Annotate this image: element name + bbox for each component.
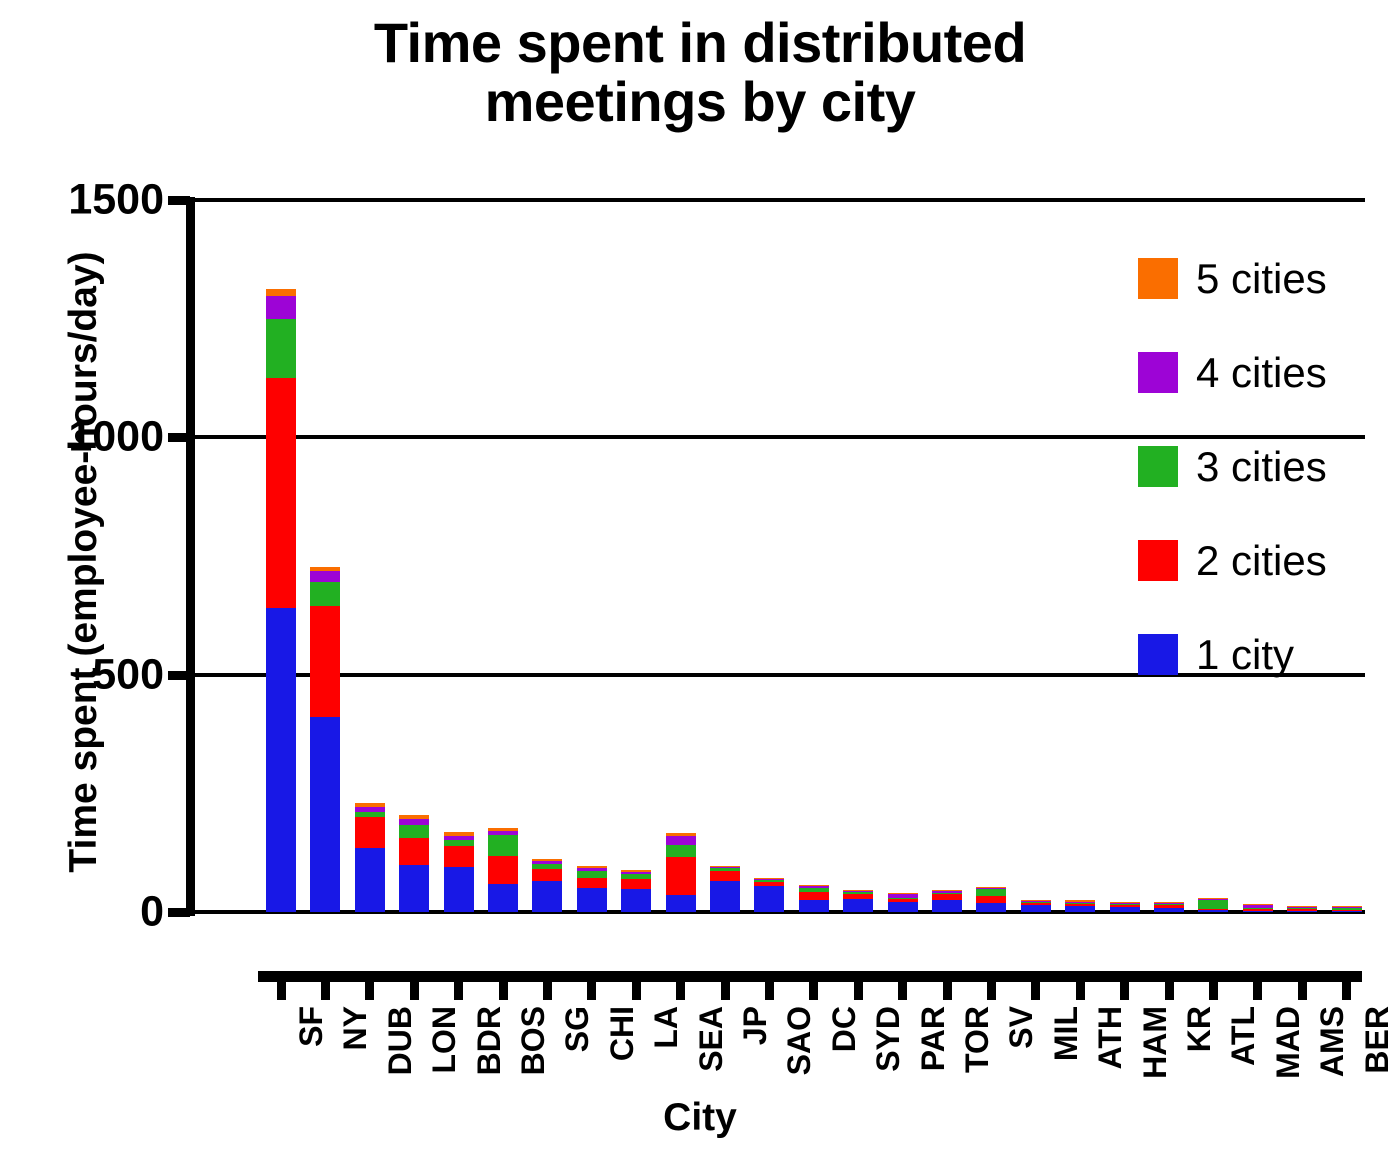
x-tick-sao bbox=[765, 982, 774, 1000]
bar-mil[interactable] bbox=[1021, 900, 1051, 912]
bar-segment-sv-2-cities bbox=[976, 896, 1006, 904]
bar-segment-ber-1-city bbox=[1332, 911, 1362, 912]
legend-item-4-cities[interactable]: 4 cities bbox=[1138, 352, 1388, 393]
y-tick-0 bbox=[168, 908, 190, 917]
bar-chi[interactable] bbox=[577, 866, 607, 912]
bar-segment-sao-1-city bbox=[754, 886, 784, 912]
bar-jp[interactable] bbox=[710, 866, 740, 912]
legend-label-5-cities: 5 cities bbox=[1196, 255, 1327, 303]
x-tick-bdr bbox=[454, 982, 463, 1000]
bar-bos[interactable] bbox=[488, 828, 518, 912]
bar-segment-dub-2-cities bbox=[355, 817, 385, 848]
x-tick-label-sea: SEA bbox=[693, 1006, 730, 1072]
bar-segment-chi-1-city bbox=[577, 888, 607, 912]
bar-segment-sf-1-city bbox=[266, 608, 296, 912]
bar-segment-sg-1-city bbox=[532, 881, 562, 912]
x-tick-mil bbox=[1031, 982, 1040, 1000]
bar-segment-bdr-1-city bbox=[444, 867, 474, 912]
bar-segment-atl-3-cities bbox=[1198, 900, 1228, 909]
bar-segment-chi-3-cities bbox=[577, 871, 607, 878]
bar-segment-bos-1-city bbox=[488, 884, 518, 912]
bar-segment-sea-4-cities bbox=[666, 836, 696, 845]
bar-segment-ny-2-cities bbox=[310, 606, 340, 718]
x-tick-label-ny: NY bbox=[337, 1006, 374, 1050]
x-tick-label-par: PAR bbox=[915, 1006, 952, 1071]
y-tick-label-0: 0 bbox=[140, 888, 164, 937]
y-tick-1500 bbox=[168, 196, 190, 205]
x-tick-label-chi: CHI bbox=[604, 1006, 641, 1061]
x-tick-label-ber: BER bbox=[1359, 1006, 1396, 1074]
legend-swatch-1-city bbox=[1138, 634, 1178, 675]
bar-segment-tor-1-city bbox=[932, 900, 962, 912]
bar-segment-jp-2-cities bbox=[710, 871, 740, 881]
bar-segment-bos-2-cities bbox=[488, 856, 518, 884]
x-tick-label-dub: DUB bbox=[382, 1006, 419, 1075]
bar-ams[interactable] bbox=[1287, 906, 1317, 912]
bar-bdr[interactable] bbox=[444, 832, 474, 912]
y-axis-ticks: 050010001500 bbox=[0, 0, 190, 1156]
bar-segment-dc-2-cities bbox=[799, 892, 829, 900]
bar-segment-mil-1-city bbox=[1021, 905, 1051, 912]
legend-label-2-cities: 2 cities bbox=[1196, 537, 1327, 585]
x-tick-label-ath: ATH bbox=[1092, 1006, 1129, 1069]
bar-segment-kr-1-city bbox=[1154, 908, 1184, 912]
bar-segment-sf-5-cities bbox=[266, 289, 296, 296]
bar-segment-dc-1-city bbox=[799, 900, 829, 912]
bar-segment-bos-3-cities bbox=[488, 835, 518, 856]
legend-item-5-cities[interactable]: 5 cities bbox=[1138, 258, 1388, 299]
bar-segment-par-1-city bbox=[888, 902, 918, 912]
legend-item-1-city[interactable]: 1 city bbox=[1138, 634, 1388, 675]
x-axis-line bbox=[258, 971, 1362, 982]
x-tick-la bbox=[632, 982, 641, 1000]
x-tick-label-ams: AMS bbox=[1314, 1006, 1351, 1077]
x-tick-sg bbox=[543, 982, 552, 1000]
x-tick-label-mad: MAD bbox=[1270, 1006, 1307, 1079]
bar-segment-ams-1-city bbox=[1287, 911, 1317, 912]
bar-la[interactable] bbox=[621, 870, 651, 912]
x-tick-label-bos: BOS bbox=[515, 1006, 552, 1075]
bar-lon[interactable] bbox=[399, 815, 429, 912]
x-tick-tor bbox=[943, 982, 952, 1000]
x-tick-lon bbox=[410, 982, 419, 1000]
bar-segment-ny-1-city bbox=[310, 717, 340, 912]
x-tick-label-lon: LON bbox=[426, 1006, 463, 1074]
bar-segment-sf-4-cities bbox=[266, 296, 296, 319]
bar-sv[interactable] bbox=[976, 887, 1006, 912]
x-tick-ny bbox=[321, 982, 330, 1000]
y-tick-label-1000: 1000 bbox=[68, 413, 164, 462]
y-tick-1000 bbox=[168, 433, 190, 442]
bar-segment-la-1-city bbox=[621, 889, 651, 912]
bar-ham[interactable] bbox=[1110, 902, 1140, 912]
x-tick-label-sao: SAO bbox=[781, 1006, 818, 1075]
bar-segment-ham-1-city bbox=[1110, 907, 1140, 912]
bar-sea[interactable] bbox=[666, 833, 696, 912]
bar-segment-lon-1-city bbox=[399, 865, 429, 912]
bar-syd[interactable] bbox=[843, 890, 873, 912]
bar-segment-sf-2-cities bbox=[266, 378, 296, 608]
x-tick-label-dc: DC bbox=[826, 1006, 863, 1052]
bar-segment-ny-4-cities bbox=[310, 571, 340, 582]
x-tick-label-syd: SYD bbox=[870, 1006, 907, 1072]
bar-segment-sea-1-city bbox=[666, 895, 696, 912]
legend-swatch-5-cities bbox=[1138, 258, 1178, 299]
x-tick-ams bbox=[1298, 982, 1307, 1000]
x-tick-dub bbox=[365, 982, 374, 1000]
legend-item-2-cities[interactable]: 2 cities bbox=[1138, 540, 1388, 581]
bar-segment-sf-3-cities bbox=[266, 319, 296, 378]
x-tick-label-atl: ATL bbox=[1225, 1006, 1262, 1066]
bar-segment-dub-1-city bbox=[355, 848, 385, 912]
x-tick-label-ham: HAM bbox=[1137, 1006, 1174, 1079]
x-tick-label-jp: JP bbox=[737, 1006, 774, 1045]
bar-segment-mad-1-city bbox=[1243, 911, 1273, 912]
bar-dub[interactable] bbox=[355, 803, 385, 912]
x-tick-par bbox=[898, 982, 907, 1000]
legend-label-4-cities: 4 cities bbox=[1196, 349, 1327, 397]
chart-figure: Time spent in distributed meetings by ci… bbox=[0, 0, 1400, 1156]
x-tick-bos bbox=[499, 982, 508, 1000]
bar-dc[interactable] bbox=[799, 885, 829, 912]
x-tick-ath bbox=[1076, 982, 1085, 1000]
x-tick-sea bbox=[676, 982, 685, 1000]
bar-sao[interactable] bbox=[754, 878, 784, 912]
bar-atl[interactable] bbox=[1198, 898, 1228, 912]
bar-segment-lon-2-cities bbox=[399, 838, 429, 864]
legend-swatch-3-cities bbox=[1138, 446, 1178, 487]
bar-segment-la-2-cities bbox=[621, 879, 651, 889]
x-tick-sv bbox=[987, 982, 996, 1000]
x-tick-label-sg: SG bbox=[559, 1006, 596, 1052]
bar-tor[interactable] bbox=[932, 890, 962, 912]
x-tick-atl bbox=[1209, 982, 1218, 1000]
y-tick-500 bbox=[168, 671, 190, 680]
x-tick-ber bbox=[1342, 982, 1351, 1000]
legend-label-3-cities: 3 cities bbox=[1196, 443, 1327, 491]
bar-mad[interactable] bbox=[1243, 904, 1273, 912]
bar-segment-chi-2-cities bbox=[577, 878, 607, 888]
x-tick-syd bbox=[854, 982, 863, 1000]
bar-segment-syd-1-city bbox=[843, 899, 873, 912]
bar-segment-ny-3-cities bbox=[310, 582, 340, 606]
bar-segment-bdr-2-cities bbox=[444, 846, 474, 867]
x-tick-chi bbox=[587, 982, 596, 1000]
bar-segment-sea-2-cities bbox=[666, 857, 696, 895]
legend-swatch-4-cities bbox=[1138, 352, 1178, 393]
x-tick-label-bdr: BDR bbox=[471, 1006, 508, 1075]
bar-segment-lon-3-cities bbox=[399, 825, 429, 838]
chart-title: Time spent in distributed meetings by ci… bbox=[300, 14, 1100, 132]
x-tick-ham bbox=[1120, 982, 1129, 1000]
bar-segment-ath-1-city bbox=[1065, 906, 1095, 912]
x-tick-jp bbox=[721, 982, 730, 1000]
legend-swatch-2-cities bbox=[1138, 540, 1178, 581]
x-tick-label-sv: SV bbox=[1003, 1006, 1040, 1049]
chart-legend: 5 cities4 cities3 cities2 cities1 city bbox=[1138, 258, 1388, 728]
x-tick-kr bbox=[1165, 982, 1174, 1000]
bar-segment-atl-1-city bbox=[1198, 910, 1228, 912]
x-tick-label-la: LA bbox=[648, 1006, 685, 1049]
bar-ber[interactable] bbox=[1332, 906, 1362, 912]
bar-segment-sea-3-cities bbox=[666, 845, 696, 858]
bar-sf[interactable] bbox=[266, 289, 296, 912]
x-tick-label-mil: MIL bbox=[1048, 1006, 1085, 1061]
x-tick-label-tor: TOR bbox=[959, 1006, 996, 1073]
x-tick-dc bbox=[809, 982, 818, 1000]
y-tick-label-500: 500 bbox=[92, 650, 164, 699]
x-tick-label-kr: KR bbox=[1181, 1006, 1218, 1052]
y-tick-label-1500: 1500 bbox=[68, 176, 164, 225]
bar-segment-sg-2-cities bbox=[532, 869, 562, 881]
x-tick-mad bbox=[1253, 982, 1262, 1000]
legend-item-3-cities[interactable]: 3 cities bbox=[1138, 446, 1388, 487]
legend-label-1-city: 1 city bbox=[1196, 631, 1294, 679]
bar-sg[interactable] bbox=[532, 859, 562, 912]
bar-segment-sv-3-cities bbox=[976, 889, 1006, 896]
bar-ath[interactable] bbox=[1065, 900, 1095, 912]
bar-par[interactable] bbox=[888, 893, 918, 912]
bar-ny[interactable] bbox=[310, 567, 340, 912]
x-axis-label: City bbox=[0, 1096, 1400, 1140]
bar-kr[interactable] bbox=[1154, 902, 1184, 912]
bar-segment-jp-1-city bbox=[710, 881, 740, 912]
x-tick-sf bbox=[277, 982, 286, 1000]
bar-segment-sv-1-city bbox=[976, 903, 1006, 912]
x-tick-label-sf: SF bbox=[293, 1006, 330, 1047]
